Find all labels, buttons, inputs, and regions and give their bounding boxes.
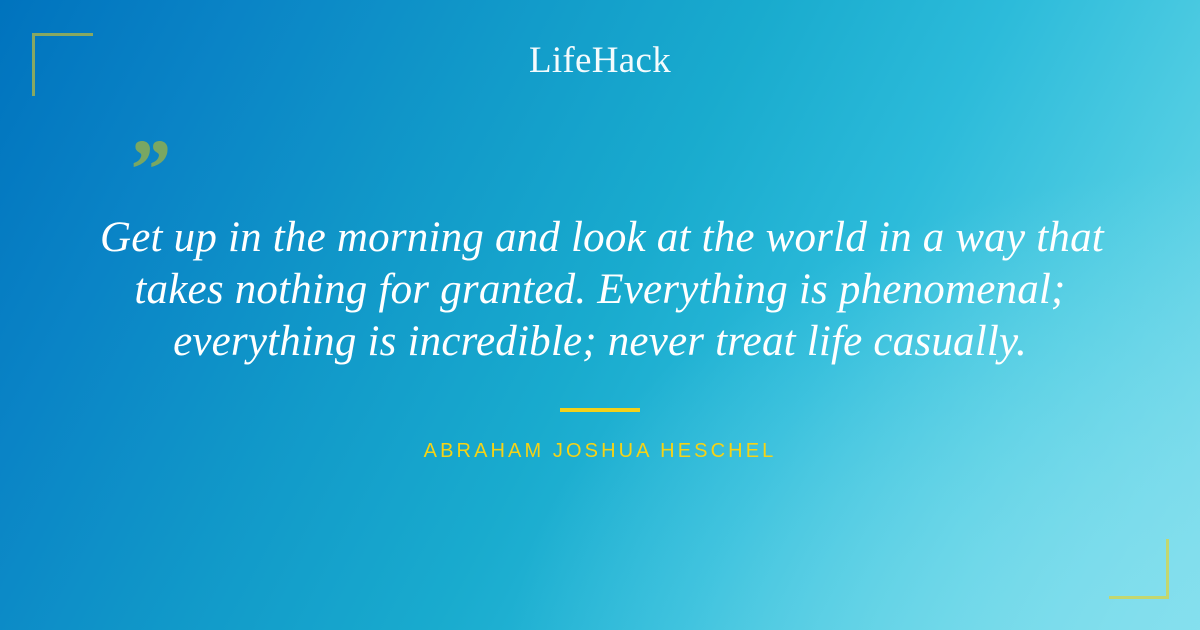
brand-logo: LifeHack (0, 40, 1200, 82)
quote-card: LifeHack ” Get up in the morning and loo… (0, 0, 1200, 630)
quote-line: everything is incredible; never treat li… (100, 316, 1100, 368)
attribution-author: ABRAHAM JOSHUA HESCHEL (0, 438, 1200, 464)
quote-line: Get up in the morning and look at the wo… (100, 212, 1100, 264)
corner-bracket-bottom-right-icon (1109, 539, 1169, 599)
quotation-mark-icon: ” (126, 126, 186, 192)
quote-line: takes nothing for granted. Everything is… (100, 264, 1100, 316)
quote-text: Get up in the morning and look at the wo… (100, 212, 1100, 368)
attribution-divider (560, 408, 640, 412)
